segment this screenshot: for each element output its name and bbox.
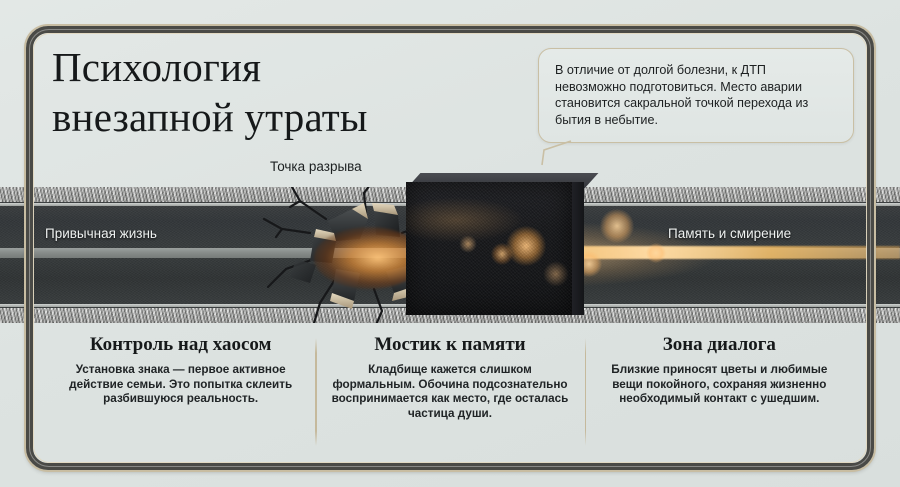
insight-columns: Контроль над хаосом Установка знака — пе…	[46, 334, 854, 454]
column-body: Кладбище кажется слишком формальным. Обо…	[327, 363, 572, 421]
granite-front-face	[406, 182, 572, 315]
column-body: Близкие приносят цветы и любимые вещи по…	[597, 363, 842, 407]
infographic-canvas: Привычная жизнь Память и смирение Точка …	[0, 0, 900, 487]
column-control: Контроль над хаосом Установка знака — пе…	[46, 334, 315, 454]
page-title: Психология внезапной утраты	[52, 42, 522, 142]
column-memory-bridge: Мостик к памяти Кладбище кажется слишком…	[315, 334, 584, 454]
column-body: Установка знака — первое активное действ…	[58, 363, 303, 407]
column-heading: Мостик к памяти	[327, 334, 572, 356]
callout-box: В отличие от долгой болезни, к ДТП невоз…	[538, 48, 854, 143]
column-heading: Контроль над хаосом	[58, 334, 303, 356]
band-label-left: Привычная жизнь	[45, 226, 157, 241]
column-heading: Зона диалога	[597, 334, 842, 356]
granite-side-face	[572, 182, 584, 315]
rupture-point-label: Точка разрыва	[270, 159, 362, 174]
callout-text: В отличие от долгой болезни, к ДТП невоз…	[555, 62, 837, 128]
column-dialogue-zone: Зона диалога Близкие приносят цветы и лю…	[585, 334, 854, 454]
granite-monument	[406, 173, 584, 315]
band-label-right: Память и смирение	[668, 226, 791, 241]
callout-tail-icon	[539, 140, 573, 166]
